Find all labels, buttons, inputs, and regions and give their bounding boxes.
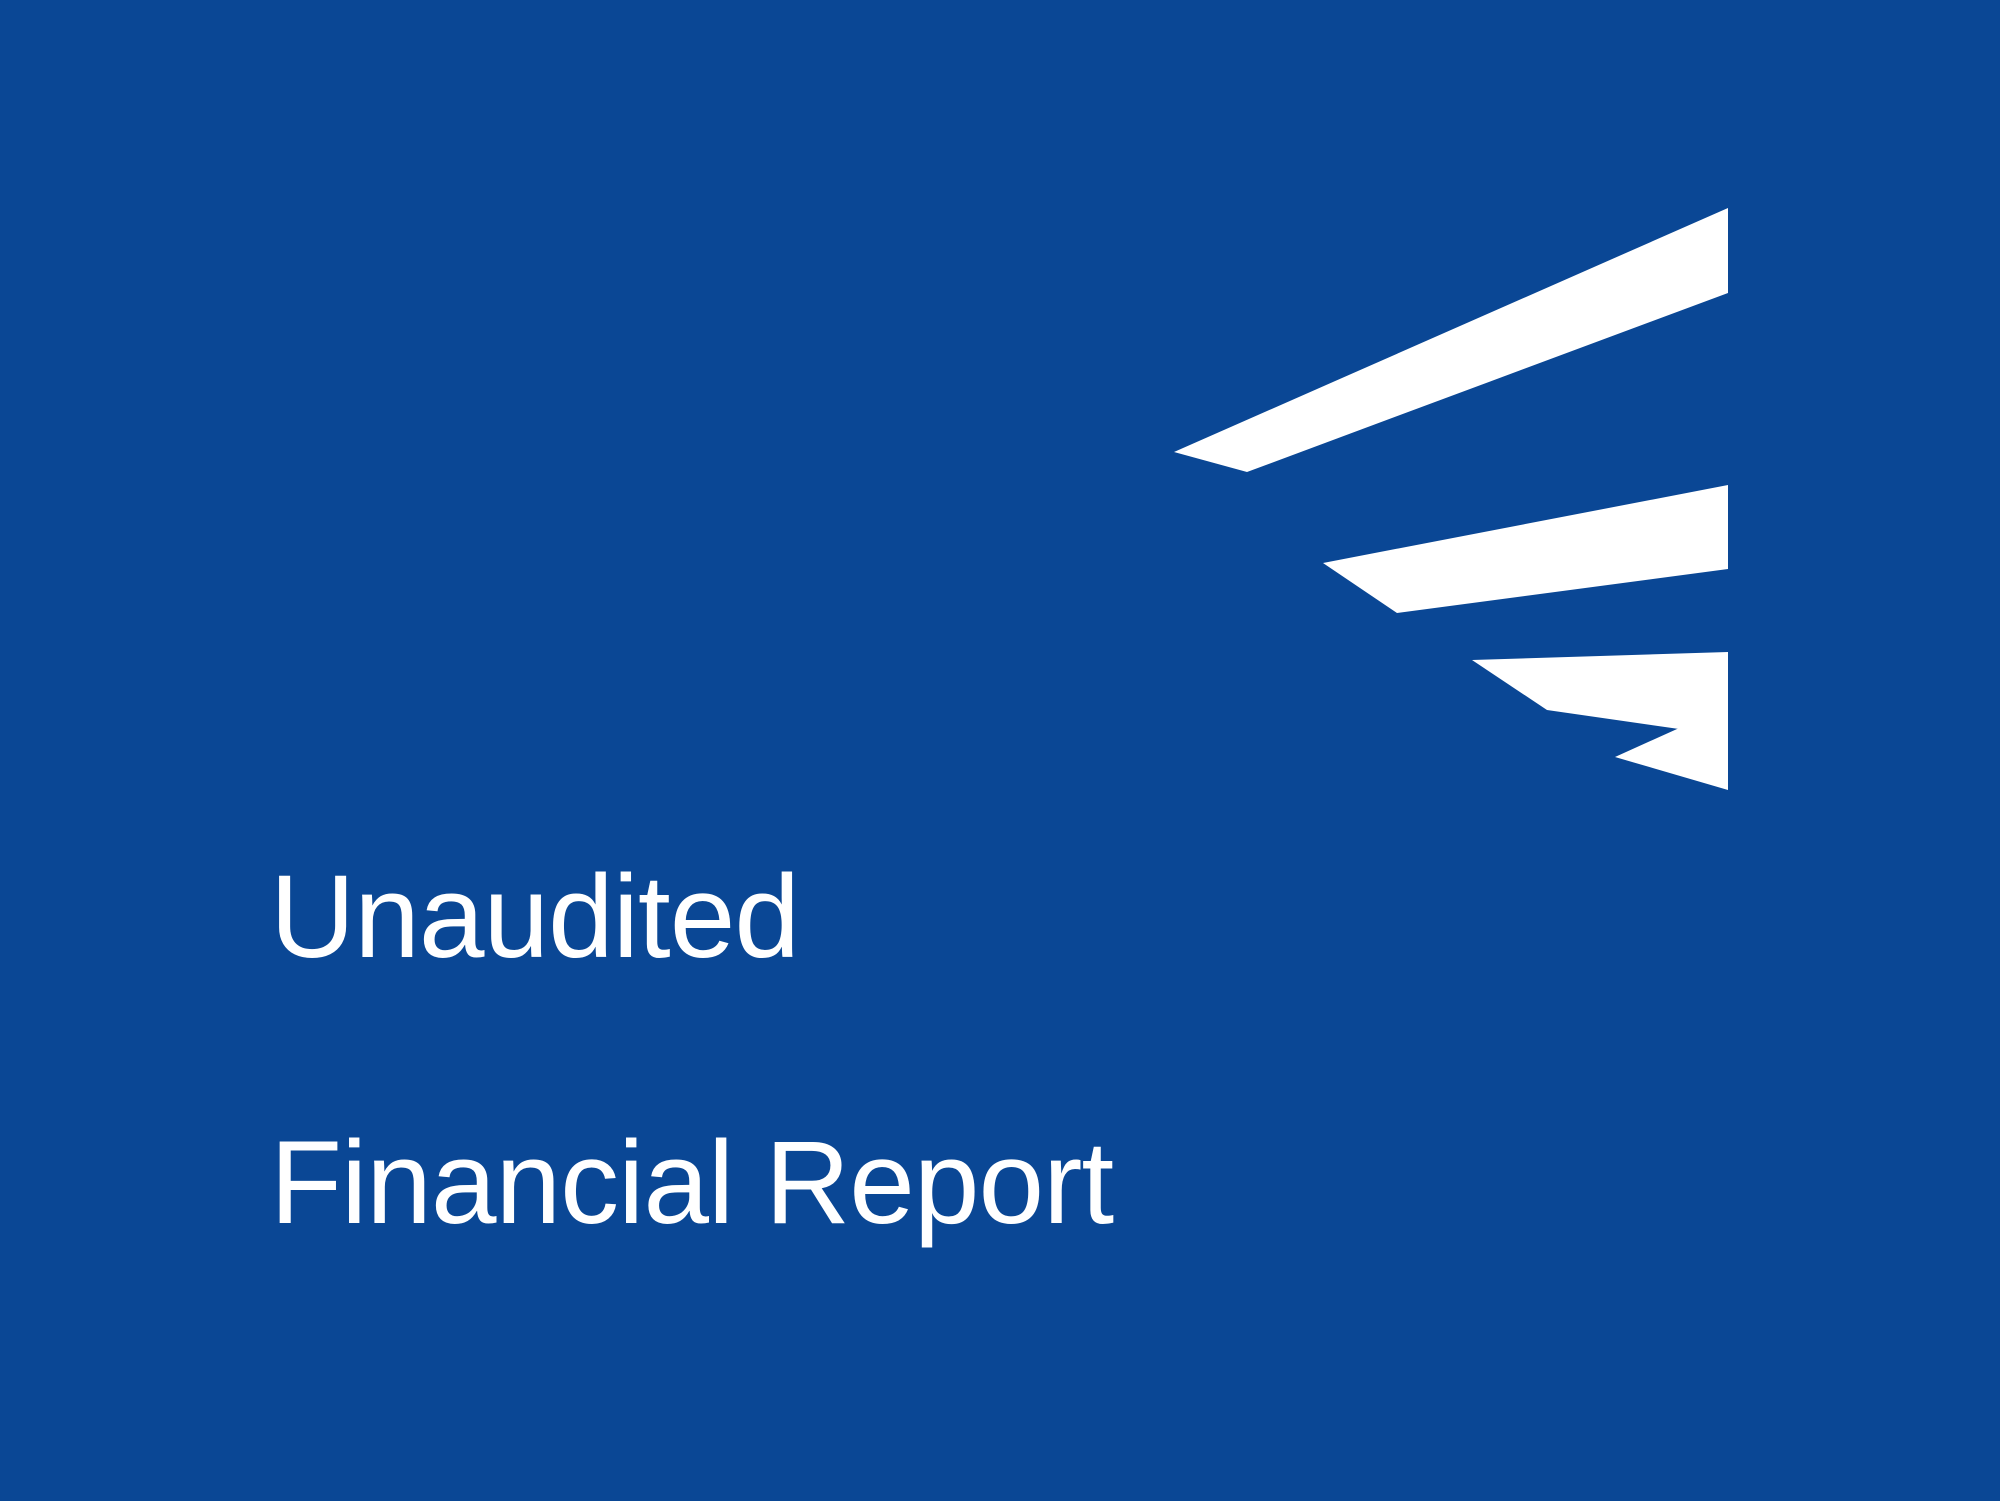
page-title-line-1: Unaudited (270, 851, 1370, 984)
report-cover-slide: Unaudited Financial Report (0, 0, 2000, 1501)
logo-bar-1 (1174, 208, 1728, 472)
logo-bar-3 (1472, 652, 1728, 736)
logo-bar-2 (1323, 485, 1728, 613)
logo-bar-4 (1615, 706, 1728, 790)
page-title: Unaudited Financial Report (270, 718, 1370, 1383)
cover-title-block: Unaudited Financial Report (270, 718, 1370, 1383)
page-title-line-2: Financial Report (270, 1117, 1370, 1250)
